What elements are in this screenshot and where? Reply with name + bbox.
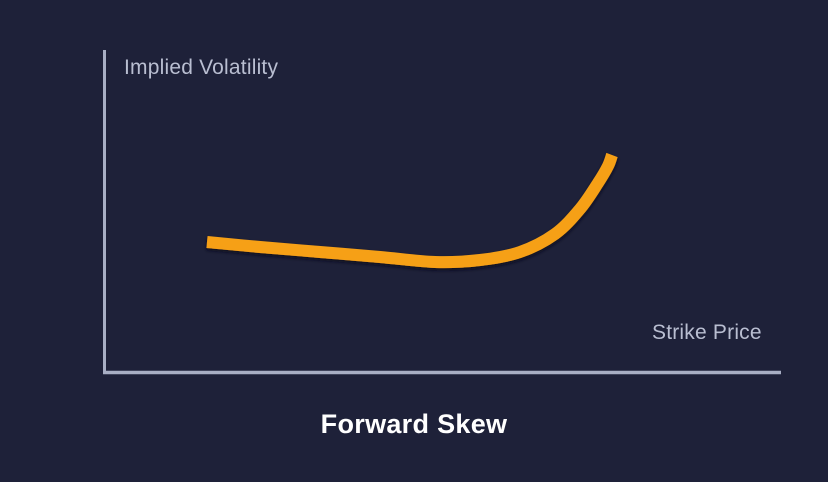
implied-volatility-curve (207, 155, 612, 262)
x-axis-label: Strike Price (652, 321, 762, 345)
y-axis-label: Implied Volatility (124, 56, 278, 80)
chart-title: Forward Skew (0, 409, 828, 440)
chart-figure: Implied Volatility Strike Price Forward … (0, 0, 828, 482)
